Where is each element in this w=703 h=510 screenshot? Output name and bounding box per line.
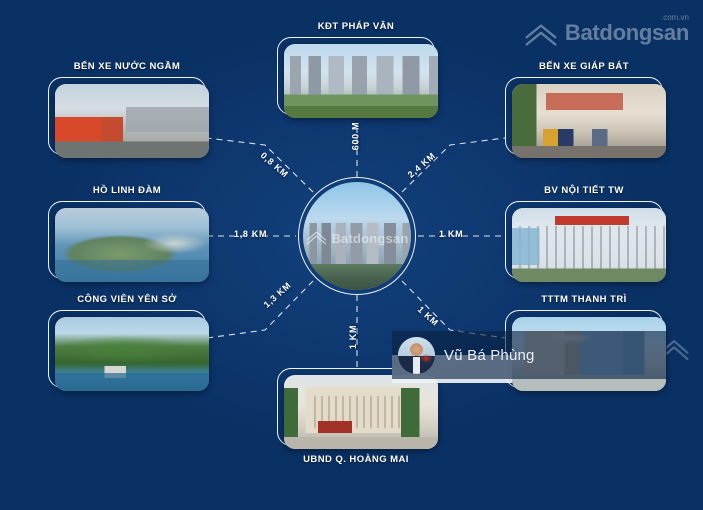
distance-to-ubnd-hoang-mai: 1 KM (348, 325, 358, 349)
card-ben-xe-giap-bat[interactable]: BẾN XE GIÁP BÁT (505, 62, 663, 155)
card-ben-xe-nuoc-ngam[interactable]: BẾN XE NƯỚC NGẦM (48, 62, 206, 155)
central-project-photo: Batdongsan (303, 182, 411, 290)
distance-to-bv-noi-tiet-tw: 1 KM (439, 229, 463, 239)
card-label-ben-xe-nuoc-ngam: BẾN XE NƯỚC NGẦM (48, 62, 206, 72)
card-photo-ubnd-hoang-mai (284, 375, 438, 449)
hub-watermark: Batdongsan (305, 229, 408, 247)
central-project-hub: Batdongsan (298, 177, 416, 295)
card-frame-ho-linh-dam (48, 201, 206, 279)
card-photo-cong-vien-yen-so (55, 317, 209, 391)
card-label-ho-linh-dam: HỒ LINH ĐÀM (48, 186, 206, 196)
card-photo-bv-noi-tiet-tw (512, 208, 666, 282)
author-name: Vũ Bá Phùng (444, 347, 535, 364)
card-label-ubnd-hoang-mai: UBND Q. HOÀNG MAI (277, 455, 435, 465)
card-kdt-phap-van[interactable]: KĐT PHÁP VÂN (277, 22, 435, 115)
card-label-kdt-phap-van: KĐT PHÁP VÂN (277, 22, 435, 32)
roof-chevron-icon (305, 229, 327, 247)
roof-chevron-icon (524, 22, 558, 49)
card-bv-noi-tiet-tw[interactable]: BV NỘI TIẾT TW (505, 186, 663, 279)
link-ben-xe-nuoc-ngam (207, 138, 313, 192)
card-cong-vien-yen-so[interactable]: CÔNG VIÊN YÊN SỞ (48, 295, 206, 388)
card-photo-kdt-phap-van (284, 44, 438, 118)
card-label-ben-xe-giap-bat: BẾN XE GIÁP BÁT (505, 62, 663, 72)
card-frame-bv-noi-tiet-tw (505, 201, 663, 279)
distance-to-ho-linh-dam: 1,8 KM (234, 229, 267, 239)
card-frame-cong-vien-yen-so (48, 310, 206, 388)
batdongsan-tld: .com.vn (661, 14, 689, 22)
card-photo-ben-xe-giap-bat (512, 84, 666, 158)
card-label-tttm-thanh-tri: TTTM THANH TRÌ (505, 295, 663, 305)
batdongsan-brand-text: Batdongsan (565, 20, 689, 45)
batdongsan-wordmark: Batdongsan .com.vn (565, 22, 689, 44)
card-frame-ben-xe-nuoc-ngam (48, 77, 206, 155)
card-ho-linh-dam[interactable]: HỒ LINH ĐÀM (48, 186, 206, 279)
card-frame-ben-xe-giap-bat (505, 77, 663, 155)
author-overlay[interactable]: Vũ Bá Phùng (392, 331, 667, 379)
batdongsan-watermark: Batdongsan .com.vn (524, 22, 689, 49)
card-label-bv-noi-tiet-tw: BV NỘI TIẾT TW (505, 186, 663, 196)
hub-watermark-text: Batdongsan (331, 231, 408, 246)
card-label-cong-vien-yen-so: CÔNG VIÊN YÊN SỞ (48, 295, 206, 305)
link-cong-vien-yen-so (207, 281, 313, 338)
infographic-canvas: Batdongsan BẾN XE NƯỚC NGẦM HỒ LINH ĐÀM (0, 0, 703, 510)
card-photo-ben-xe-nuoc-ngam (55, 84, 209, 158)
card-photo-ho-linh-dam (55, 208, 209, 282)
distance-to-kdt-phap-van: 600 M (350, 122, 360, 151)
card-frame-kdt-phap-van (277, 37, 435, 115)
author-avatar (398, 337, 435, 374)
